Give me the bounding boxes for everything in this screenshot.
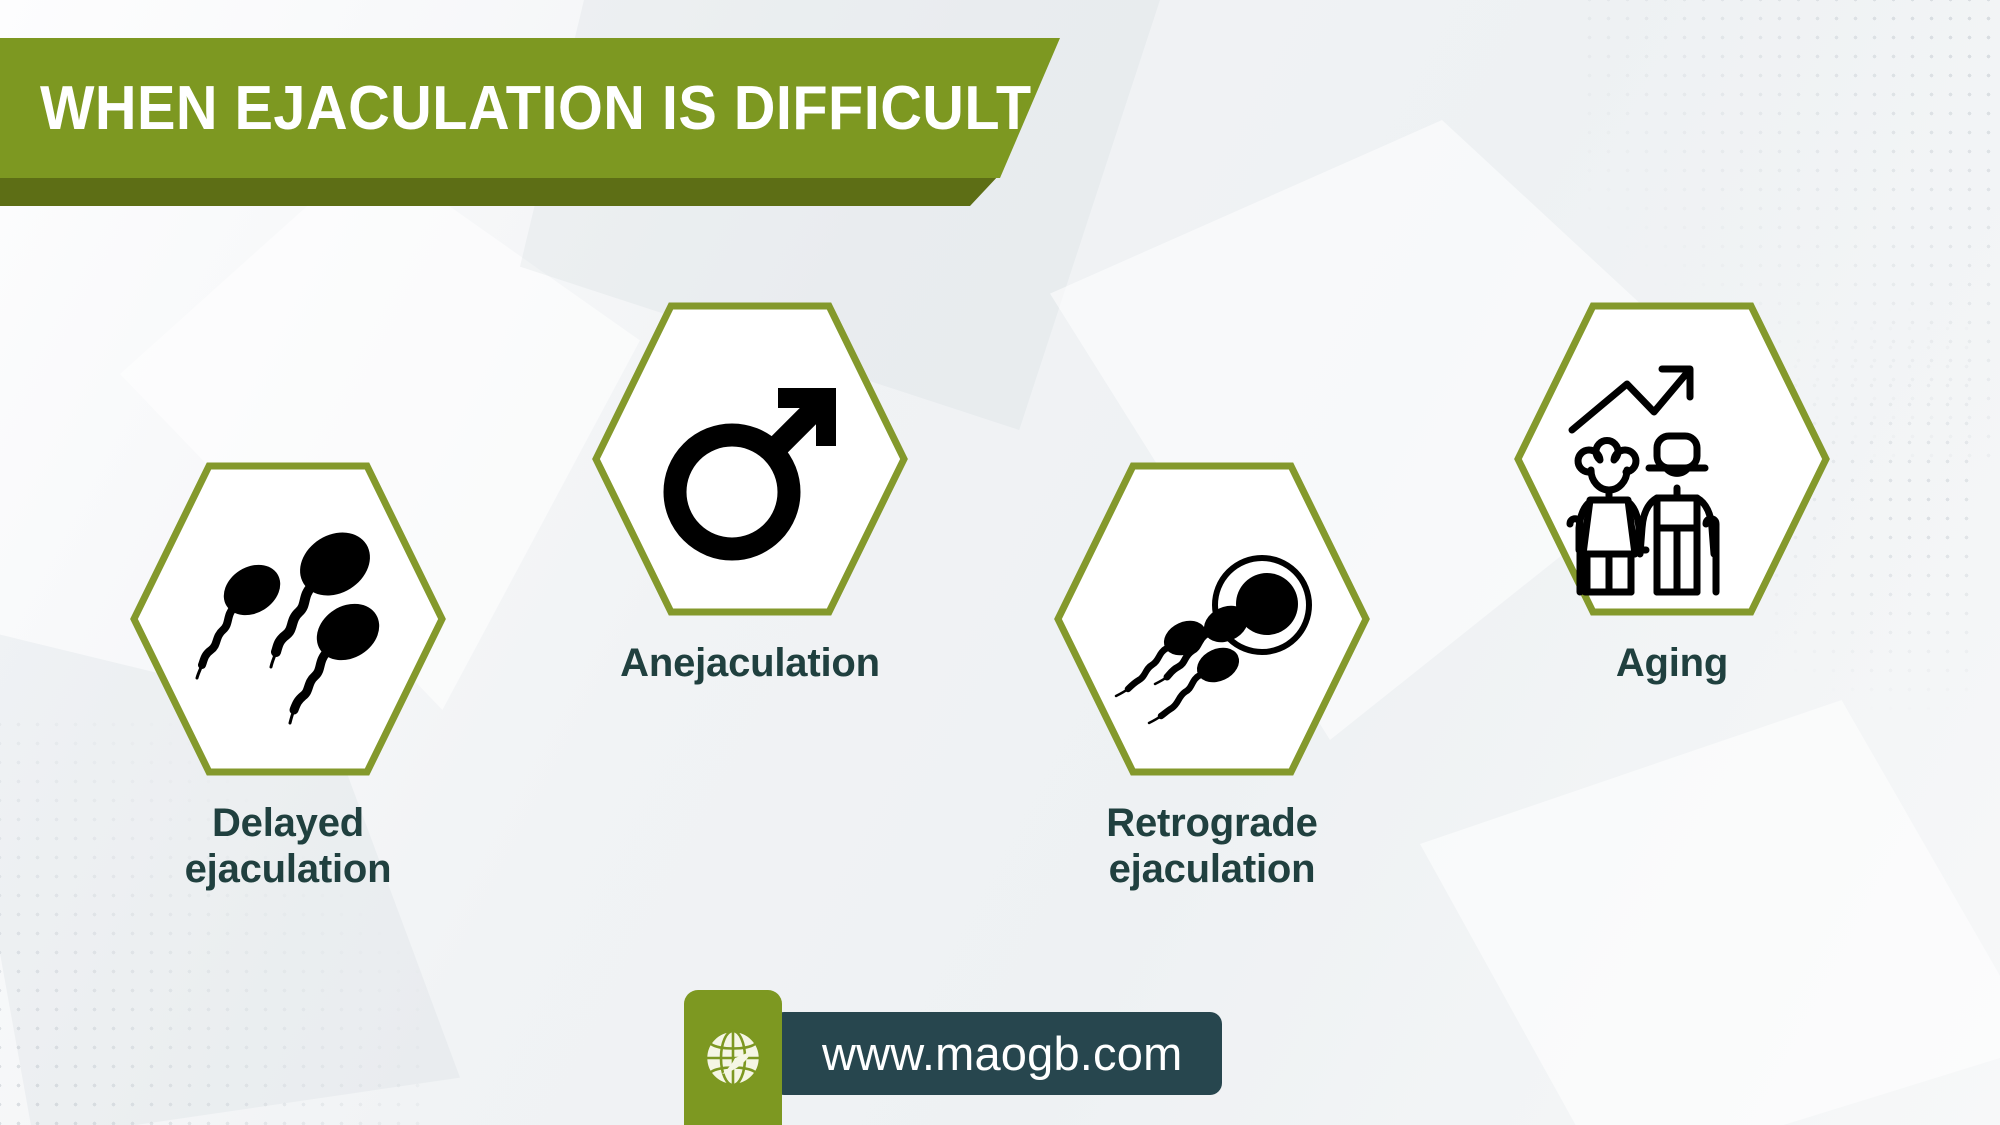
hexagon-frame-4[interactable] (1514, 302, 1830, 616)
hexagon-frame-3[interactable] (1054, 462, 1370, 776)
item-delayed-ejaculation: Delayed ejaculation (128, 462, 448, 892)
hexagon-frame-1[interactable] (130, 462, 446, 776)
globe-icon (702, 1027, 764, 1089)
item-label-4: Aging (1616, 640, 1728, 686)
hexagon-shape-4 (1514, 302, 1830, 616)
hexagon-frame-2[interactable] (592, 302, 908, 616)
title-banner-shadow (0, 174, 1000, 206)
hexagon-shape-2 (592, 302, 908, 616)
item-anejaculation: Anejaculation (590, 302, 910, 686)
footer-url-text: www.maogb.com (822, 1026, 1182, 1081)
item-aging: Aging (1512, 302, 1832, 686)
item-retrograde-ejaculation: Retrograde ejaculation (1052, 462, 1372, 892)
item-label-3: Retrograde ejaculation (1106, 800, 1317, 892)
hexagon-shape-3 (1054, 462, 1370, 776)
footer-website-bar: www.maogb.com (684, 990, 1222, 1125)
item-label-1: Delayed ejaculation (185, 800, 392, 892)
title-banner: WHEN EJACULATION IS DIFFICULT (0, 38, 1060, 178)
item-label-2: Anejaculation (620, 640, 880, 686)
page-title: WHEN EJACULATION IS DIFFICULT (40, 73, 1032, 144)
hexagon-shape-1 (130, 462, 446, 776)
infographic-canvas: WHEN EJACULATION IS DIFFICULT (0, 0, 2000, 1125)
footer-icon-tab (684, 990, 782, 1125)
footer-url-container[interactable]: www.maogb.com (772, 1012, 1222, 1095)
